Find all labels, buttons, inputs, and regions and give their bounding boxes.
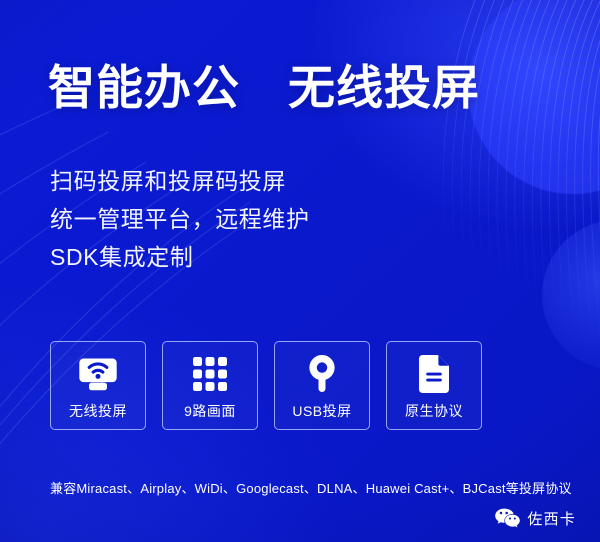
brand-name: 佐西卡: [527, 508, 576, 529]
subtitle-list: 扫码投屏和投屏码投屏 统一管理平台，远程维护 SDK集成定制: [50, 162, 310, 276]
page-title: 智能办公 无线投屏: [48, 63, 480, 113]
feature-card-native-protocol[interactable]: 原生协议: [386, 341, 482, 430]
promo-banner: 智能办公 无线投屏 扫码投屏和投屏码投屏 统一管理平台，远程维护 SDK集成定制: [0, 0, 600, 542]
document-icon: [419, 353, 449, 395]
feature-card-list: 无线投屏: [50, 341, 482, 430]
subtitle-line-1: 扫码投屏和投屏码投屏: [50, 162, 310, 200]
feature-card-label: 9路画面: [184, 401, 236, 421]
feature-card-wireless-cast[interactable]: 无线投屏: [50, 341, 146, 430]
feature-card-usb-cast[interactable]: USB投屏: [274, 341, 370, 430]
feature-card-label: 原生协议: [405, 401, 463, 421]
usb-connector-icon: [307, 353, 337, 395]
subtitle-line-3: SDK集成定制: [50, 238, 310, 276]
wechat-icon: [495, 508, 520, 529]
compatibility-text: 兼容Miracast、Airplay、WiDi、Googlecast、DLNA、…: [50, 478, 572, 497]
feature-card-label: USB投屏: [292, 401, 351, 421]
grid-nine-icon: [193, 353, 227, 395]
wireless-cast-icon: [78, 353, 118, 395]
subtitle-line-2: 统一管理平台，远程维护: [50, 200, 310, 238]
footer-brand: 佐西卡: [495, 508, 576, 529]
feature-card-nine-screens[interactable]: 9路画面: [162, 341, 258, 430]
feature-card-label: 无线投屏: [69, 401, 127, 421]
